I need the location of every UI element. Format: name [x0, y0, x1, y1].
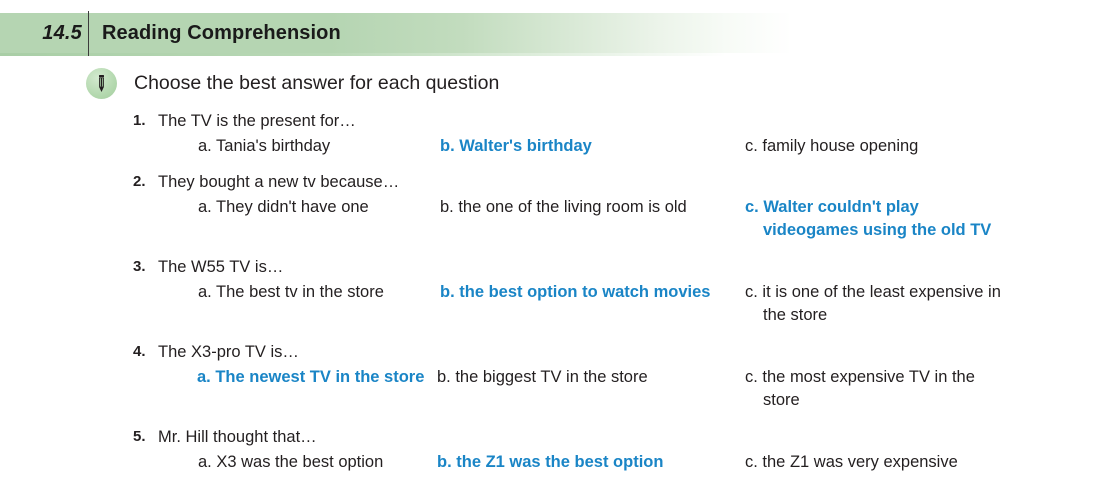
option-b[interactable]: b. the biggest TV in the store: [437, 366, 648, 389]
option-c[interactable]: c. Walter couldn't play videogames using…: [745, 196, 1045, 242]
question-stem: 1. The TV is the present for…: [0, 112, 1100, 135]
section-title: Reading Comprehension: [102, 13, 341, 53]
question-number: 2.: [133, 173, 146, 190]
question-item: 2. They bought a new tv because… a. They…: [0, 173, 1100, 244]
option-c[interactable]: c. the most expensive TV in the store: [745, 366, 1045, 412]
question-number: 5.: [133, 428, 146, 445]
header-divider: [88, 11, 89, 56]
option-c-line1: c. it is one of the least expensive in: [745, 283, 1001, 301]
question-number: 1.: [133, 112, 146, 129]
question-text: The TV is the present for…: [158, 112, 356, 131]
question-text: They bought a new tv because…: [158, 173, 399, 192]
option-row: a. Tania's birthday b. Walter's birthday…: [0, 135, 1100, 159]
option-row: a. They didn't have one b. the one of th…: [0, 196, 1100, 244]
option-c-line1: c. Walter couldn't play: [745, 198, 919, 216]
instruction-row: Choose the best answer for each question: [86, 68, 499, 99]
option-c-line2: videogames using the old TV: [745, 219, 1045, 242]
question-text: The W55 TV is…: [158, 258, 283, 277]
option-a[interactable]: a. Tania's birthday: [198, 135, 330, 158]
option-b[interactable]: b. Walter's birthday: [440, 135, 592, 158]
option-c[interactable]: c. it is one of the least expensive in t…: [745, 281, 1045, 327]
question-stem: 5. Mr. Hill thought that…: [0, 428, 1100, 451]
option-a[interactable]: a. X3 was the best option: [198, 451, 383, 474]
question-stem: 4. The X3-pro TV is…: [0, 343, 1100, 366]
option-row: a. The newest TV in the store b. the big…: [0, 366, 1100, 414]
questions-list: 1. The TV is the present for… a. Tania's…: [0, 112, 1100, 489]
option-b[interactable]: b. the Z1 was the best option: [437, 451, 663, 474]
option-c-line2: store: [745, 389, 1045, 412]
question-item: 1. The TV is the present for… a. Tania's…: [0, 112, 1100, 159]
option-c-line2: the store: [745, 304, 1045, 327]
section-number: 14.5: [0, 13, 82, 53]
option-a[interactable]: a. The best tv in the store: [198, 281, 384, 304]
option-b[interactable]: b. the one of the living room is old: [440, 196, 687, 219]
question-item: 5. Mr. Hill thought that… a. X3 was the …: [0, 428, 1100, 475]
question-stem: 2. They bought a new tv because…: [0, 173, 1100, 196]
option-c-line1: c. the most expensive TV in the: [745, 368, 975, 386]
instruction-text: Choose the best answer for each question: [134, 72, 499, 95]
option-row: a. X3 was the best option b. the Z1 was …: [0, 451, 1100, 475]
question-item: 3. The W55 TV is… a. The best tv in the …: [0, 258, 1100, 329]
question-text: The X3-pro TV is…: [158, 343, 299, 362]
pencil-icon: [86, 68, 117, 99]
option-row: a. The best tv in the store b. the best …: [0, 281, 1100, 329]
option-b[interactable]: b. the best option to watch movies: [440, 281, 710, 304]
option-c[interactable]: c. the Z1 was very expensive: [745, 451, 1045, 474]
question-number: 3.: [133, 258, 146, 275]
option-a[interactable]: a. The newest TV in the store: [197, 366, 424, 389]
question-item: 4. The X3-pro TV is… a. The newest TV in…: [0, 343, 1100, 414]
option-a[interactable]: a. They didn't have one: [198, 196, 369, 219]
question-stem: 3. The W55 TV is…: [0, 258, 1100, 281]
question-number: 4.: [133, 343, 146, 360]
question-text: Mr. Hill thought that…: [158, 428, 317, 447]
option-c[interactable]: c. family house opening: [745, 135, 1045, 158]
